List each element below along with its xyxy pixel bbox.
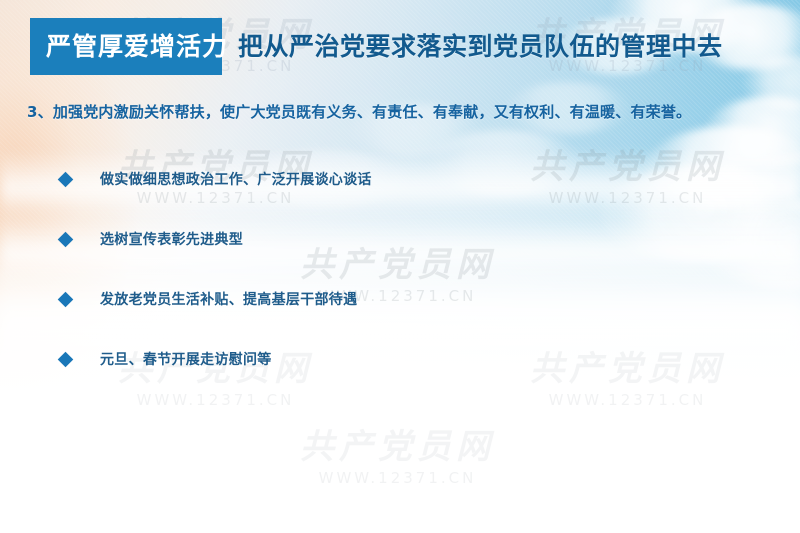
diamond-bullet-icon	[58, 171, 74, 187]
list-item-label: 元旦、春节开展走访慰问等	[100, 349, 272, 369]
list-item: 选树宣传表彰先进典型	[60, 230, 372, 248]
list-item-label: 选树宣传表彰先进典型	[100, 229, 243, 249]
header-subtitle: 把从严治党要求落实到党员队伍的管理中去	[222, 18, 723, 75]
list-item: 做实做细思想政治工作、广泛开展谈心谈话	[60, 170, 372, 188]
diamond-bullet-icon	[58, 351, 74, 367]
list-item-label: 做实做细思想政治工作、广泛开展谈心谈话	[100, 169, 372, 189]
list-item: 发放老党员生活补贴、提高基层干部待遇	[60, 290, 372, 308]
header-badge-title: 严管厚爱增活力	[30, 18, 222, 75]
diamond-bullet-icon	[58, 231, 74, 247]
diamond-bullet-icon	[58, 291, 74, 307]
lead-paragraph: 3、加强党内激励关怀帮扶，使广大党员既有义务、有责任、有奉献，又有权利、有温暖、…	[27, 101, 691, 122]
list-item: 元旦、春节开展走访慰问等	[60, 350, 372, 368]
list-item-label: 发放老党员生活补贴、提高基层干部待遇	[100, 289, 357, 309]
bullet-list: 做实做细思想政治工作、广泛开展谈心谈话 选树宣传表彰先进典型 发放老党员生活补贴…	[60, 170, 372, 410]
slide-canvas: 共产党员网 WWW.12371.CN 共产党员网 WWW.12371.CN 共产…	[0, 0, 800, 533]
slide-header: 严管厚爱增活力 把从严治党要求落实到党员队伍的管理中去	[30, 18, 723, 75]
